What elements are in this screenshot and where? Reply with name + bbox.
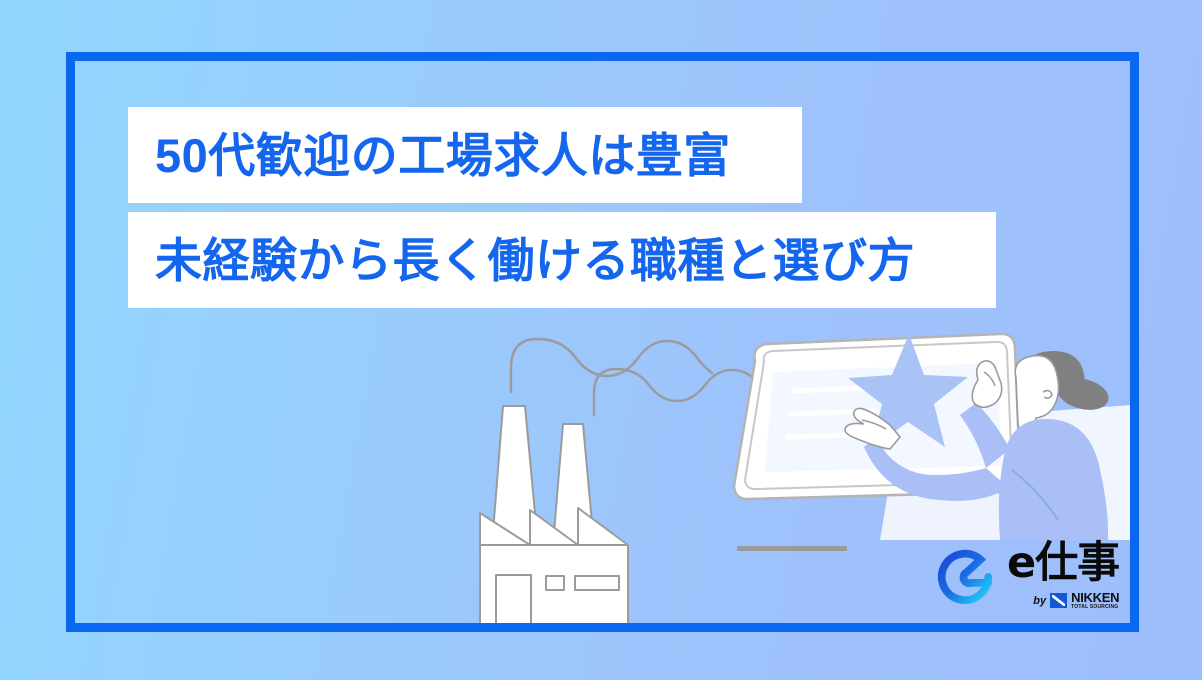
e-spiral-logo-icon: [934, 546, 996, 608]
nikken-tagline: TOTAL SOURCING: [1071, 605, 1119, 610]
page-title-line2: 未経験から長く働ける職種と選び方: [155, 237, 915, 284]
page-title-line1: 50代歓迎の工場求人は豊富: [155, 132, 731, 179]
star-rating: [848, 334, 968, 448]
nikken-mark-icon: [1050, 593, 1067, 608]
banner-canvas: 50代歓迎の工場求人は豊富 未経験から長く働ける職種と選び方 e仕事 by: [0, 0, 1202, 680]
person-pointing: [845, 351, 1112, 540]
title-band-line1: 50代歓迎の工場求人は豊富: [128, 107, 802, 203]
brand-logo[interactable]: e仕事 by NIKKEN TOTAL SOURCING: [934, 542, 1124, 626]
logo-wordmark: e仕事: [1007, 542, 1119, 585]
logo-parent-company: by NIKKEN TOTAL SOURCING: [1033, 591, 1119, 610]
accent-underline: [737, 546, 847, 551]
smoke-waves: [511, 339, 760, 415]
factory-illustration: [480, 406, 628, 628]
nikken-name: NIKKEN: [1071, 591, 1119, 604]
tablet-device: [734, 334, 1020, 499]
logo-by-label: by: [1033, 595, 1046, 607]
back-panel: [880, 405, 1132, 540]
tablet-text-lines: [787, 388, 884, 437]
title-band-line2: 未経験から長く働ける職種と選び方: [128, 212, 996, 308]
